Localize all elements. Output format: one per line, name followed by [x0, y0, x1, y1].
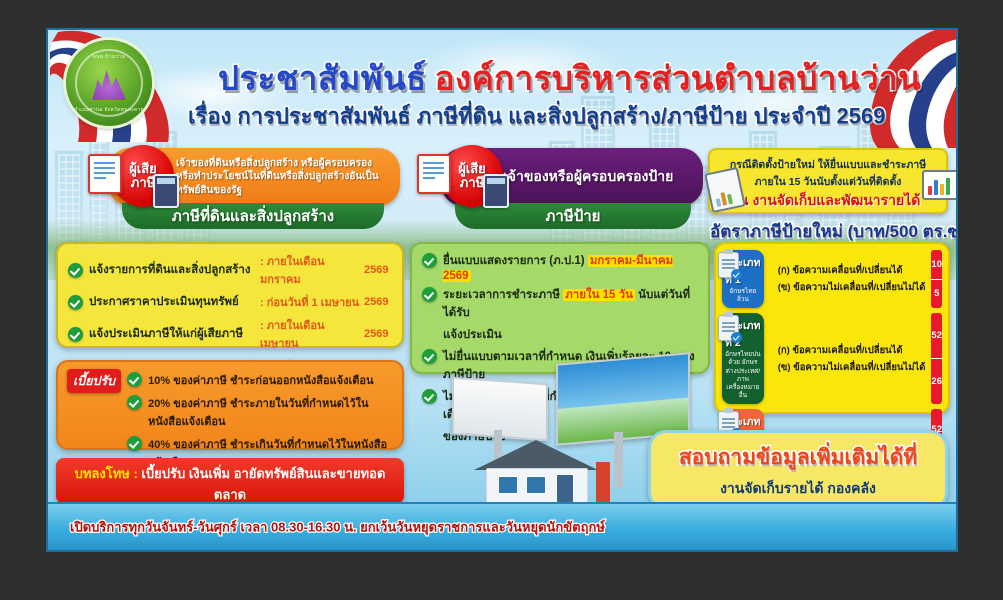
- rate-value: 26: [931, 358, 942, 404]
- check-icon: [127, 395, 142, 410]
- municipality-logo: อบต.บ้านว่าน อำเภอท่าบ่อ จังหวัดหนองคาย: [66, 40, 152, 126]
- sign-rate-table-card: ประเภทที่ 1อักษรไทยล้วน(ก) ข้อความเคลื่อ…: [714, 242, 950, 414]
- rate-lines: (ก) ข้อความเคลื่อนที่/เปลี่ยนได้(ข) ข้อค…: [770, 313, 926, 404]
- land-schedule-year: 2569: [364, 296, 398, 308]
- fine-rows-list: 10% ของค่าภาษี ชำระก่อนออกหนังสือแจ้งเตื…: [127, 369, 393, 471]
- poster-footer: เปิดบริการทุกวันจันทร์-วันศุกร์ เวลา 08.…: [48, 502, 956, 550]
- page-subtitle: เรื่อง การประชาสัมพันธ์ ภาษีที่ดิน และสิ…: [188, 99, 886, 134]
- land-schedule-label: แจ้งประเมินภาษีให้แก่ผู้เสียภาษี: [89, 325, 243, 343]
- check-icon: [68, 263, 83, 278]
- taxpayer-land-badge-line2: ภาษี: [131, 176, 155, 190]
- taxpayer-land-badge-line1: ผู้เสีย: [129, 162, 157, 176]
- land-schedule-year: 2569: [364, 328, 398, 340]
- sign-schedule-row: ไม่ยื่นแบบตามเวลาที่กำหนด เงินเพิ่มร้อยล…: [422, 348, 698, 384]
- fine-row: 10% ของค่าภาษี ชำระก่อนออกหนังสือแจ้งเตื…: [127, 371, 393, 389]
- notice-line3: ณ งานจัดเก็บและพัฒนารายได้: [718, 190, 938, 212]
- sign-tax-schedule-card: ยื่นแบบแสดงรายการ (ภ.ป.1) มกราคม-มีนาคม …: [410, 242, 710, 374]
- clipboard-check-icon: [718, 315, 739, 341]
- monitor-chart-icon: [922, 170, 956, 200]
- check-icon: [422, 389, 437, 404]
- contact-heading: สอบถามข้อมูลเพิ่มเติมได้ที่: [661, 441, 935, 474]
- rate-lines: (ก) ข้อความเคลื่อนที่/เปลี่ยนได้(ข) ข้อค…: [770, 250, 926, 308]
- document-icon: [88, 154, 122, 194]
- criminal-penalty-line1: บทลงโทษ : เบี้ยปรับ เงินเพิ่ม อายัดทรัพย…: [66, 463, 394, 505]
- page-title: ประชาสัมพันธ์องค์การบริหารส่วนตำบลบ้านว่…: [218, 52, 921, 105]
- sign-schedule-row: แจ้งประเมิน: [422, 326, 698, 344]
- land-schedule-row: แจ้งประเมินภาษีให้แก่ผู้เสียภาษี: [68, 325, 260, 343]
- sign-schedule-text: ยื่นแบบแสดงรายการ (ภ.ป.1) มกราคม-มีนาคม …: [443, 252, 698, 282]
- fine-row-text: 20% ของค่าภาษี ชำระภายในวันที่กำหนดไว้ใน…: [148, 394, 393, 430]
- poster-header: อบต.บ้านว่าน อำเภอท่าบ่อ จังหวัดหนองคาย …: [48, 30, 956, 138]
- rate-rows-container: ประเภทที่ 1อักษรไทยล้วน(ก) ข้อความเคลื่อ…: [722, 250, 942, 406]
- fine-row-text: 10% ของค่าภาษี ชำระก่อนออกหนังสือแจ้งเตื…: [148, 371, 373, 389]
- check-icon: [68, 327, 83, 342]
- notice-line1: กรณีติดตั้งป้ายใหม่ ให้ยื่นแบบและชำระภาษ…: [718, 156, 938, 173]
- sign-schedule-text: แจ้งประเมิน: [443, 326, 502, 344]
- sign-schedule-row: ยื่นแบบแสดงรายการ (ภ.ป.1) มกราคม-มีนาคม …: [422, 252, 698, 282]
- calculator-icon: [483, 174, 509, 208]
- check-icon: [422, 349, 437, 364]
- calculator-icon: [153, 174, 179, 208]
- land-schedule-value: : ภายในเดือน เมษายน: [260, 316, 364, 352]
- check-icon: [422, 253, 437, 268]
- taxpayer-sign-badge-line1: ผู้เสีย: [458, 162, 486, 176]
- logo-bottom-text: อำเภอท่าบ่อ จังหวัดหนองคาย: [74, 106, 144, 114]
- land-schedule-label: แจ้งรายการที่ดินและสิ่งปลูกสร้าง: [89, 261, 251, 279]
- criminal-penalty-banner: บทลงโทษ : เบี้ยปรับ เงินเพิ่ม อายัดทรัพย…: [56, 458, 404, 504]
- land-schedule-label: ประกาศราคาประเมินทุนทรัพย์: [89, 293, 239, 311]
- rate-value: 52: [931, 313, 942, 358]
- taxpayer-sign-group: เจ้าของหรือผู้ครอบครองป้าย ผู้เสีย ภาษี …: [393, 148, 723, 233]
- land-schedule-row: แจ้งรายการที่ดินและสิ่งปลูกสร้าง: [68, 261, 260, 279]
- category-tab-land-tax-label: ภาษีที่ดินและสิ่งปลูกสร้าง: [172, 204, 334, 228]
- check-icon: [127, 436, 142, 451]
- taxpayer-land-desc-line2: หรือทำประโยชน์ในที่ดินหรือสิ่งปลูกสร้างอ…: [176, 170, 379, 183]
- rate-row: ประเภทที่ 2อักษรไทยปนด้วย อักษรต่างประเท…: [722, 313, 942, 404]
- rate-value: 10: [931, 250, 942, 279]
- screenshot-canvas: อบต.บ้านว่าน อำเภอท่าบ่อ จังหวัดหนองคาย …: [0, 0, 1003, 600]
- service-lift: [596, 462, 610, 502]
- sign-schedule-text: ไม่ยื่นแบบตามเวลาที่กำหนด เงินเพิ่มร้อยล…: [443, 348, 698, 384]
- check-icon: [422, 287, 437, 302]
- taxpayer-sign-badge-line2: ภาษี: [460, 176, 484, 190]
- rate-line-text: (ข) ข้อความไม่เคลื่อนที่/เปลี่ยนไม่ได้: [778, 360, 926, 375]
- fine-label: เบี้ยปรับ: [67, 369, 121, 393]
- rate-values: 105: [931, 250, 942, 308]
- house-window: [526, 476, 546, 494]
- infographic-poster: อบต.บ้านว่าน อำเภอท่าบ่อ จังหวัดหนองคาย …: [48, 30, 956, 550]
- taxpayer-land-desc-line3: ทรัพย์สินของรัฐ: [176, 184, 379, 197]
- logo-top-text: อบต.บ้านว่าน: [93, 53, 125, 61]
- rate-value: 5: [931, 279, 942, 309]
- title-part2: องค์การบริหารส่วนตำบลบ้านว่าน: [435, 60, 921, 97]
- contact-line1: งานจัดเก็บรายได้ กองคลัง: [661, 478, 935, 500]
- land-schedule-row: ประกาศราคาประเมินทุนทรัพย์: [68, 293, 260, 311]
- land-schedule-value: : ภายในเดือน มกราคม: [260, 252, 364, 288]
- check-icon: [68, 295, 83, 310]
- taxpayer-land-group: เจ้าของที่ดินหรือสิ่งปลูกสร้าง หรือผู้คร…: [58, 148, 408, 233]
- penalty-card: เบี้ยปรับ 10% ของค่าภาษี ชำระก่อนออกหนัง…: [56, 360, 404, 450]
- highlight-text: ภายใน 15 วัน: [563, 289, 635, 301]
- highlight-text: มกราคม-มีนาคม 2569: [443, 255, 673, 282]
- fine-row: 20% ของค่าภาษี ชำระภายในวันที่กำหนดไว้ใน…: [127, 394, 393, 430]
- house-body: [486, 468, 588, 506]
- rate-values: 5226: [931, 313, 942, 404]
- land-schedule-year: 2569: [364, 264, 398, 276]
- title-part1: ประชาสัมพันธ์: [218, 60, 427, 97]
- sign-schedule-text: ไม่ชำระภาษีในเวลาที่กำหนด เงินเพิ่มร้อยล…: [443, 388, 698, 424]
- house-window: [498, 476, 518, 494]
- taxpayer-sign-desc-line1: เจ้าของหรือผู้ครอบครองป้าย: [503, 166, 673, 188]
- clipboard-check-icon: [718, 252, 739, 278]
- notice-line2: ภายใน 15 วันนับตั้งแต่วันที่ติดตั้ง: [718, 173, 938, 190]
- sign-schedule-text: ของภาษีป้าย: [443, 428, 506, 446]
- sign-schedule-text: ระยะเวลาการชำระภาษี ภายใน 15 วัน นับแต่ว…: [443, 286, 698, 322]
- document-icon: [417, 154, 451, 194]
- rate-type-subtitle: อักษรไทยปนด้วย อักษรต่างประเทศ/ภาพ เครื่…: [725, 351, 761, 400]
- sign-schedule-row: ไม่ชำระภาษีในเวลาที่กำหนด เงินเพิ่มร้อยล…: [422, 388, 698, 424]
- rate-line-text: (ข) ข้อความไม่เคลื่อนที่/เปลี่ยนไม่ได้: [778, 280, 926, 295]
- check-icon: [127, 372, 142, 387]
- land-schedule-value: : ก่อนวันที่ 1 เมษายน: [260, 293, 364, 311]
- criminal-penalty-text1: เบี้ยปรับ เงินเพิ่ม อายัดทรัพย์สินและขาย…: [141, 466, 385, 502]
- rate-type-badge: ประเภทที่ 2อักษรไทยปนด้วย อักษรต่างประเท…: [722, 313, 764, 404]
- rate-row: ประเภทที่ 1อักษรไทยล้วน(ก) ข้อความเคลื่อ…: [722, 250, 942, 308]
- rate-table-title: อัตราภาษีป้ายใหม่ (บาท/500 ตร.ซม.): [710, 218, 956, 245]
- rate-line-text: (ก) ข้อความเคลื่อนที่/เปลี่ยนได้: [778, 343, 926, 358]
- sign-schedule-list: ยื่นแบบแสดงรายการ (ภ.ป.1) มกราคม-มีนาคม …: [422, 252, 698, 446]
- rate-line-text: (ก) ข้อความเคลื่อนที่/เปลี่ยนได้: [778, 263, 926, 278]
- rate-type-subtitle: อักษรไทยล้วน: [725, 288, 761, 304]
- category-tab-sign-tax-label: ภาษีป้าย: [546, 204, 601, 228]
- sign-schedule-row: ระยะเวลาการชำระภาษี ภายใน 15 วัน นับแต่ว…: [422, 286, 698, 322]
- criminal-penalty-label: บทลงโทษ :: [75, 466, 138, 481]
- land-tax-schedule-card: แจ้งรายการที่ดินและสิ่งปลูกสร้าง: ภายในเ…: [56, 242, 404, 348]
- contact-card: สอบถามข้อมูลเพิ่มเติมได้ที่ งานจัดเก็บรา…: [648, 430, 948, 510]
- taxpayer-land-desc-line1: เจ้าของที่ดินหรือสิ่งปลูกสร้าง หรือผู้คร…: [176, 157, 379, 170]
- footer-text: เปิดบริการทุกวันจันทร์-วันศุกร์ เวลา 08.…: [70, 517, 605, 538]
- rate-type-badge: ประเภทที่ 1อักษรไทยล้วน: [722, 250, 764, 308]
